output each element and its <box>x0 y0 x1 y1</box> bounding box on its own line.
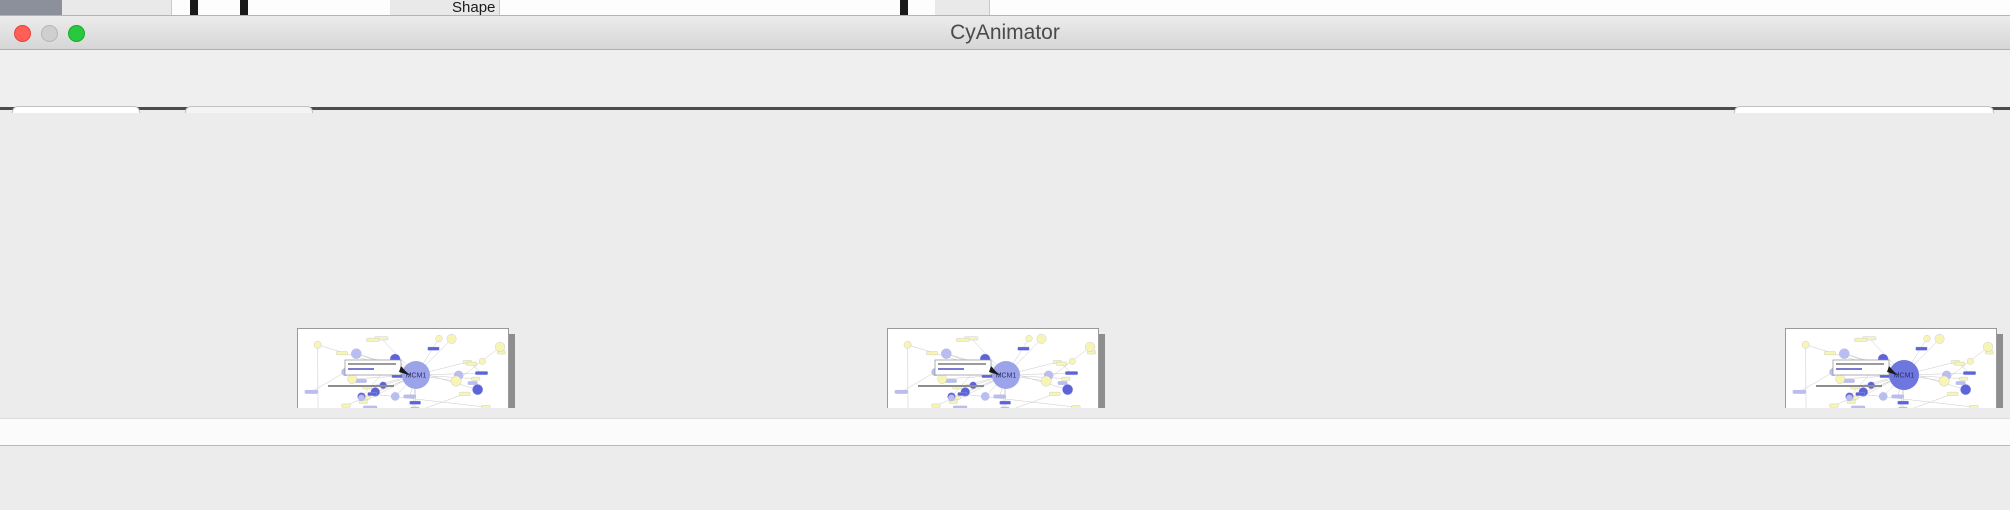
background-selected-chip <box>0 0 62 16</box>
timeline-panel[interactable]: MCM1MCM1MCM1 2131415161718 Seconds <box>0 113 2010 408</box>
background-window-label: Shape <box>452 0 495 16</box>
title-bar[interactable]: CyAnimator <box>0 16 2010 50</box>
timeline-frame[interactable]: MCM1 <box>297 328 515 408</box>
frame-network-thumbnail: MCM1 <box>297 328 509 408</box>
transport-bar: Animation Speed: <box>0 447 2010 510</box>
window-title: CyAnimator <box>0 16 2010 50</box>
frame-network-thumbnail: MCM1 <box>887 328 1099 408</box>
cyanimator-window: Shape CyAnimator Clear All Frames MCM1MC… <box>0 0 2010 510</box>
timeline-frame[interactable]: MCM1 <box>1785 328 2003 408</box>
toolbar: Clear All Frames <box>0 50 2010 110</box>
timeline-frame[interactable]: MCM1 <box>887 328 1105 408</box>
frame-network-thumbnail: MCM1 <box>1785 328 1997 408</box>
timeline-scrollbar-track[interactable] <box>0 418 2010 446</box>
background-window-strip: Shape <box>0 0 2010 16</box>
